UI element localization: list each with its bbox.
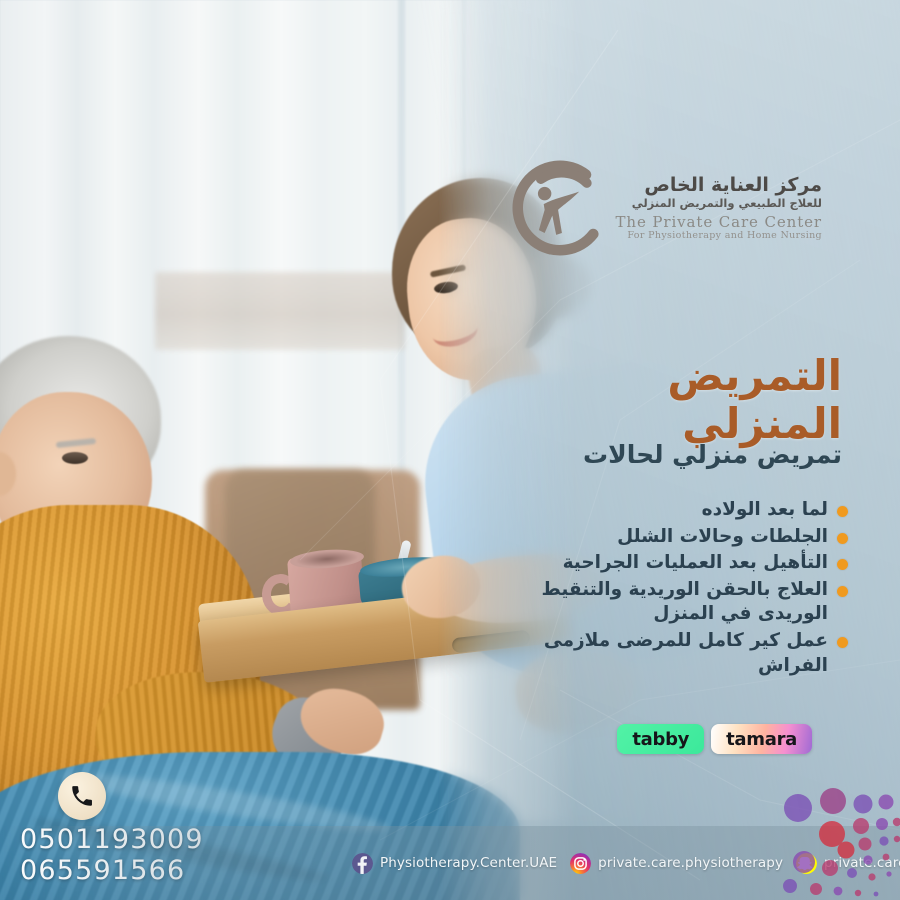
facebook-handle: Physiotherapy.Center.UAE [380,855,557,871]
phone-badge [58,772,106,820]
logo-english-name: The Private Care Center [616,214,823,230]
list-item: العلاج بالحقن الوريدية والتنقيط الوريدى … [508,578,848,627]
social-instagram[interactable]: private.care.physiotherapy [570,853,783,874]
logo-arabic-tagline: للعلاج الطبيعي والتمريض المنزلي [616,197,823,209]
logo-text-block: مركز العناية الخاص للعلاج الطبيعي والتمر… [616,175,823,241]
facebook-icon [352,853,373,874]
social-snapchat[interactable]: private.care [796,853,900,874]
social-media-bar: Physiotherapy.Center.UAE pri [0,826,900,900]
list-item-label: عمل كير كامل للمرضى ملازمى الفراش [508,629,828,678]
snapchat-icon [796,853,817,874]
tabby-logo-icon[interactable]: tabby [617,724,704,754]
elderly-woman-eye [62,452,88,464]
bullet-dot-icon [837,586,848,597]
page-title: التمريض المنزلي [512,352,842,449]
list-item: الجلطات وحالات الشلل [508,525,848,550]
list-item: التأهيل بعد العمليات الجراحية [508,551,848,576]
list-item: لما بعد الولاده [508,498,848,523]
care-figure-circle-logo-icon [512,160,608,256]
list-item-label: التأهيل بعد العمليات الجراحية [508,551,828,576]
logo-english-tagline: For Physiotherapy and Home Nursing [616,231,823,241]
page-subtitle: تمريض منزلي لحالات [512,440,842,470]
bullet-dot-icon [837,506,848,517]
list-item-label: الجلطات وحالات الشلل [508,525,828,550]
wall-shelf [155,272,405,350]
instagram-icon [570,853,591,874]
social-facebook[interactable]: Physiotherapy.Center.UAE [352,853,557,874]
service-list: لما بعد الولاده الجلطات وحالات الشلل الت… [508,498,848,680]
advertisement-poster: مركز العناية الخاص للعلاج الطبيعي والتمر… [0,0,900,900]
logo-arabic-name: مركز العناية الخاص [616,175,823,196]
bullet-dot-icon [837,533,848,544]
list-item-label: لما بعد الولاده [508,498,828,523]
phone-handset-icon [69,783,95,809]
instagram-handle: private.care.physiotherapy [598,855,783,871]
snapchat-handle: private.care [824,855,900,871]
list-item: عمل كير كامل للمرضى ملازمى الفراش [508,629,848,678]
bullet-dot-icon [837,559,848,570]
tamara-logo-icon[interactable]: tamara [711,724,812,754]
brand-logo: مركز العناية الخاص للعلاج الطبيعي والتمر… [512,160,823,256]
payment-methods: tamara tabby [617,724,812,754]
bullet-dot-icon [837,637,848,648]
list-item-label: العلاج بالحقن الوريدية والتنقيط الوريدى … [508,578,828,627]
